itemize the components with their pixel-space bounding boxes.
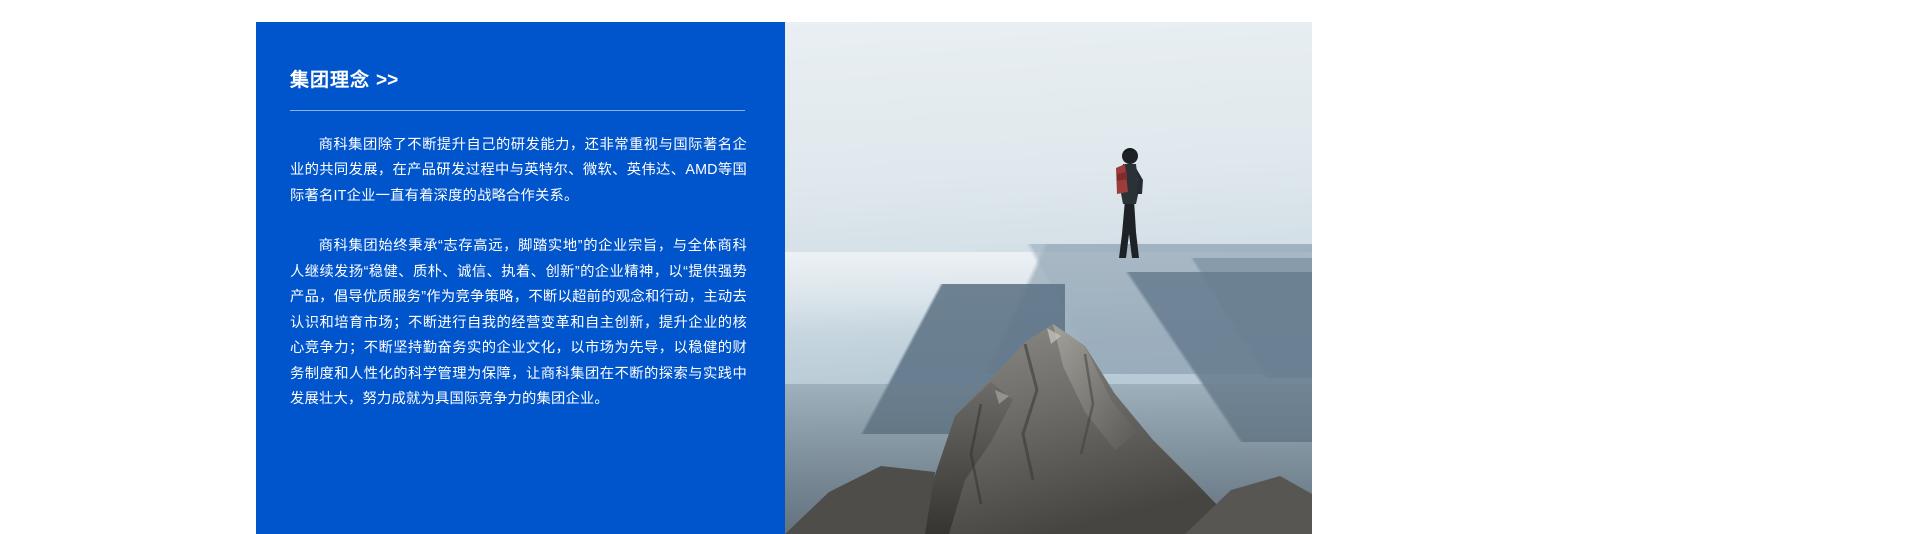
philosophy-panel: 集团理念>> 商科集团除了不断提升自己的研发能力，还非常重视与国际著名企业的共同… xyxy=(256,22,785,534)
climber-silhouette-icon xyxy=(1098,134,1158,262)
paragraph-1: 商科集团除了不断提升自己的研发能力，还非常重视与国际著名企业的共同发展，在产品研… xyxy=(290,133,747,210)
title-divider xyxy=(290,110,745,111)
chevron-right-double-icon: >> xyxy=(376,70,398,91)
mountain-peak-icon xyxy=(785,204,1312,534)
philosophy-panel-inner: 集团理念>> 商科集团除了不断提升自己的研发能力，还非常重视与国际著名企业的共同… xyxy=(256,22,785,413)
philosophy-body: 商科集团除了不断提升自己的研发能力，还非常重视与国际著名企业的共同发展，在产品研… xyxy=(290,133,747,413)
mountain-photo xyxy=(785,22,1312,534)
page-title: 集团理念>> xyxy=(290,70,745,93)
paragraph-2: 商科集团始终秉承“志存高远，脚踏实地”的企业宗旨，与全体商科人继续发扬“稳健、质… xyxy=(290,234,747,413)
promo-section: 集团理念>> 商科集团除了不断提升自己的研发能力，还非常重视与国际著名企业的共同… xyxy=(0,0,1920,534)
page-title-text: 集团理念 xyxy=(290,70,370,91)
